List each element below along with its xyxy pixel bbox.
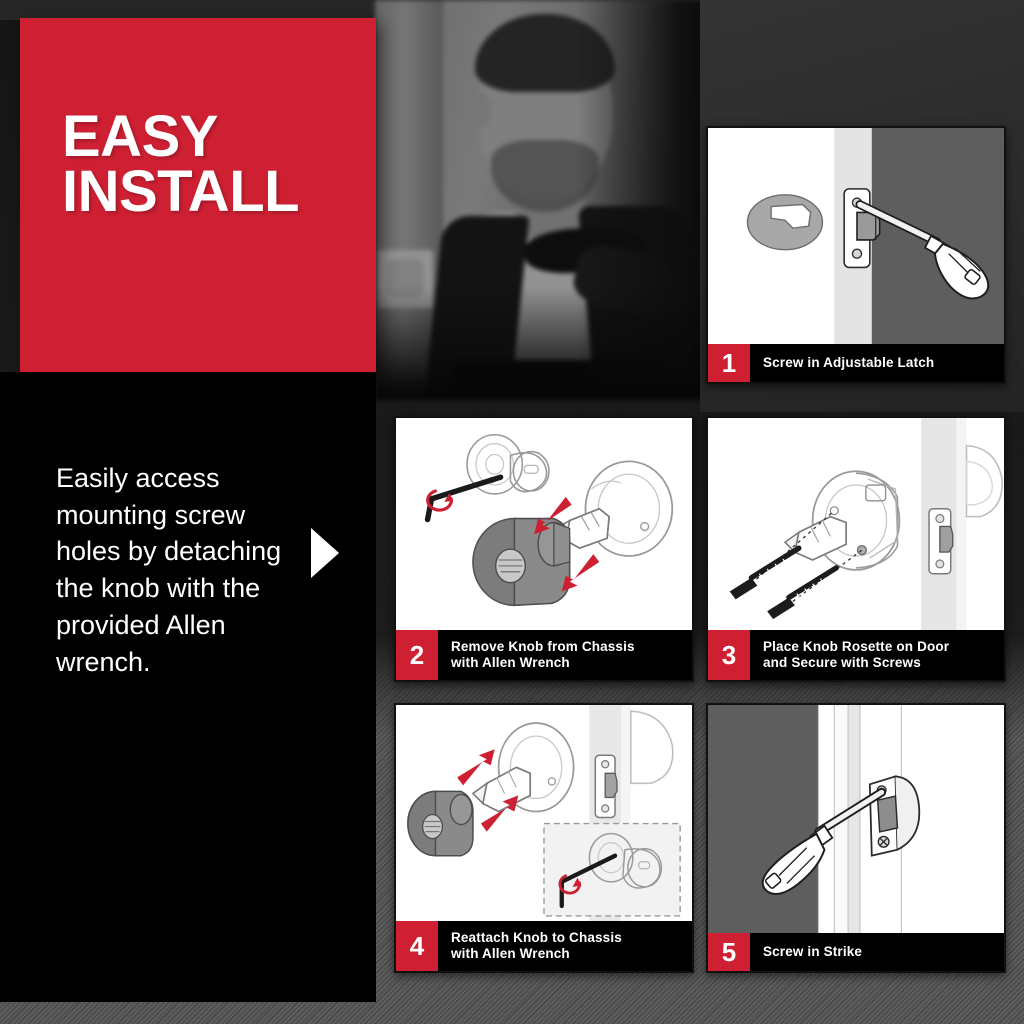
play-triangle-icon	[311, 528, 339, 578]
step-panel-3[interactable]: 3 Place Knob Rosette on Doorand Secure w…	[706, 416, 1006, 682]
step-label: Screw in Adjustable Latch	[750, 344, 1004, 382]
step-panel-5[interactable]: 5 Screw in Strike	[706, 703, 1006, 973]
step-2-caption: 2 Remove Knob from Chassiswith Allen Wre…	[396, 630, 692, 680]
step-3-illustration	[708, 418, 1004, 630]
step-1-caption: 1 Screw in Adjustable Latch	[708, 344, 1004, 382]
step-number-badge: 2	[396, 630, 438, 680]
step-5-caption: 5 Screw in Strike	[708, 933, 1004, 971]
knob-chassis-allen-wrench-art	[396, 418, 692, 630]
step-panel-1[interactable]: 1 Screw in Adjustable Latch	[706, 126, 1006, 384]
step-panel-2[interactable]: 2 Remove Knob from Chassiswith Allen Wre…	[394, 416, 694, 682]
background-photo	[375, 0, 705, 400]
knob-reattach-art	[396, 705, 692, 921]
step-1-illustration	[708, 128, 1004, 344]
step-5-illustration	[708, 705, 1004, 933]
step-label: Place Knob Rosette on Doorand Secure wit…	[750, 630, 1004, 680]
step-4-illustration	[396, 705, 692, 921]
step-4-caption: 4 Reattach Knob to Chassiswith Allen Wre…	[396, 921, 692, 971]
door-latch-screwdriver-art	[708, 128, 1004, 344]
step-panel-4[interactable]: 4 Reattach Knob to Chassiswith Allen Wre…	[394, 703, 694, 973]
step-number-badge: 5	[708, 933, 750, 971]
step-label: Screw in Strike	[750, 933, 1004, 971]
step-label: Remove Knob from Chassiswith Allen Wrenc…	[438, 630, 692, 680]
step-number-badge: 4	[396, 921, 438, 971]
strike-plate-screwdriver-art	[708, 705, 1004, 933]
rosette-on-door-screws-art	[708, 418, 1004, 630]
step-label: Reattach Knob to Chassiswith Allen Wrenc…	[438, 921, 692, 971]
title-line-2: INSTALL	[62, 165, 352, 220]
step-number-badge: 1	[708, 344, 750, 382]
hero-body-text: Easily access mounting screw holes by de…	[56, 460, 296, 680]
step-3-caption: 3 Place Knob Rosette on Doorand Secure w…	[708, 630, 1004, 680]
step-2-illustration	[396, 418, 692, 630]
page-title: EASY INSTALL	[62, 110, 352, 219]
step-number-badge: 3	[708, 630, 750, 680]
infographic-canvas: EASY INSTALL Easily access mounting scre…	[0, 0, 1024, 1024]
